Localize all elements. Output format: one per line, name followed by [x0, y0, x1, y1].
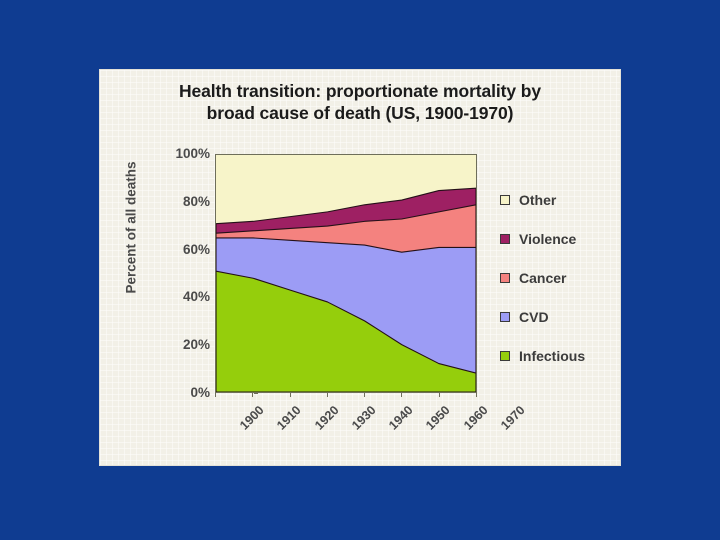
- plot-area: [215, 154, 477, 393]
- legend-swatch-icon: [500, 234, 510, 244]
- x-tick-mark: [401, 393, 402, 397]
- area-chart: Percent of all deaths 100%80%60%40%20%0%…: [100, 70, 620, 465]
- legend-swatch-icon: [500, 351, 510, 361]
- legend-item-label: Cancer: [519, 270, 566, 286]
- legend-swatch-icon: [500, 273, 510, 283]
- y-axis-label: Percent of all deaths: [124, 128, 139, 328]
- legend-item-infectious[interactable]: Infectious: [500, 336, 620, 375]
- stacked-area-paths: [216, 155, 476, 392]
- y-tick-label: 0%: [150, 387, 210, 399]
- slide: Health transition: proportionate mortali…: [0, 0, 720, 540]
- y-tick-label: 20%: [150, 339, 210, 351]
- x-tick-mark: [364, 393, 365, 397]
- legend-swatch-icon: [500, 195, 510, 205]
- legend-swatch-icon: [500, 312, 510, 322]
- x-tick-mark: [290, 393, 291, 397]
- x-axis-ticks: 19001910192019301940195019601970: [215, 393, 477, 453]
- y-tick-label: 80%: [150, 196, 210, 208]
- x-tick-label: 1920: [312, 403, 342, 433]
- x-tick-mark: [327, 393, 328, 397]
- x-tick-label: 1950: [423, 403, 453, 433]
- x-tick-label: 1910: [274, 403, 304, 433]
- legend: OtherViolenceCancerCVDInfectious: [500, 180, 620, 375]
- x-tick-mark: [252, 393, 253, 397]
- y-axis-ticks: 100%80%60%40%20%0%: [144, 154, 210, 393]
- x-tick-label: 1900: [237, 403, 267, 433]
- y-tick-label: 40%: [150, 291, 210, 303]
- x-tick-label: 1960: [461, 403, 491, 433]
- x-tick-label: 1930: [349, 403, 379, 433]
- legend-item-violence[interactable]: Violence: [500, 219, 620, 258]
- legend-item-label: Other: [519, 192, 556, 208]
- legend-item-cvd[interactable]: CVD: [500, 297, 620, 336]
- legend-item-cancer[interactable]: Cancer: [500, 258, 620, 297]
- x-tick-mark: [215, 393, 216, 397]
- legend-item-label: CVD: [519, 309, 549, 325]
- x-tick-mark: [476, 393, 477, 397]
- x-tick-label: 1970: [498, 403, 528, 433]
- legend-item-label: Violence: [519, 231, 576, 247]
- x-tick-mark: [439, 393, 440, 397]
- chart-card: Health transition: proportionate mortali…: [100, 70, 620, 465]
- y-tick-label: 60%: [150, 244, 210, 256]
- legend-item-other[interactable]: Other: [500, 180, 620, 219]
- legend-item-label: Infectious: [519, 348, 585, 364]
- x-tick-label: 1940: [386, 403, 416, 433]
- y-tick-label: 100%: [150, 148, 210, 160]
